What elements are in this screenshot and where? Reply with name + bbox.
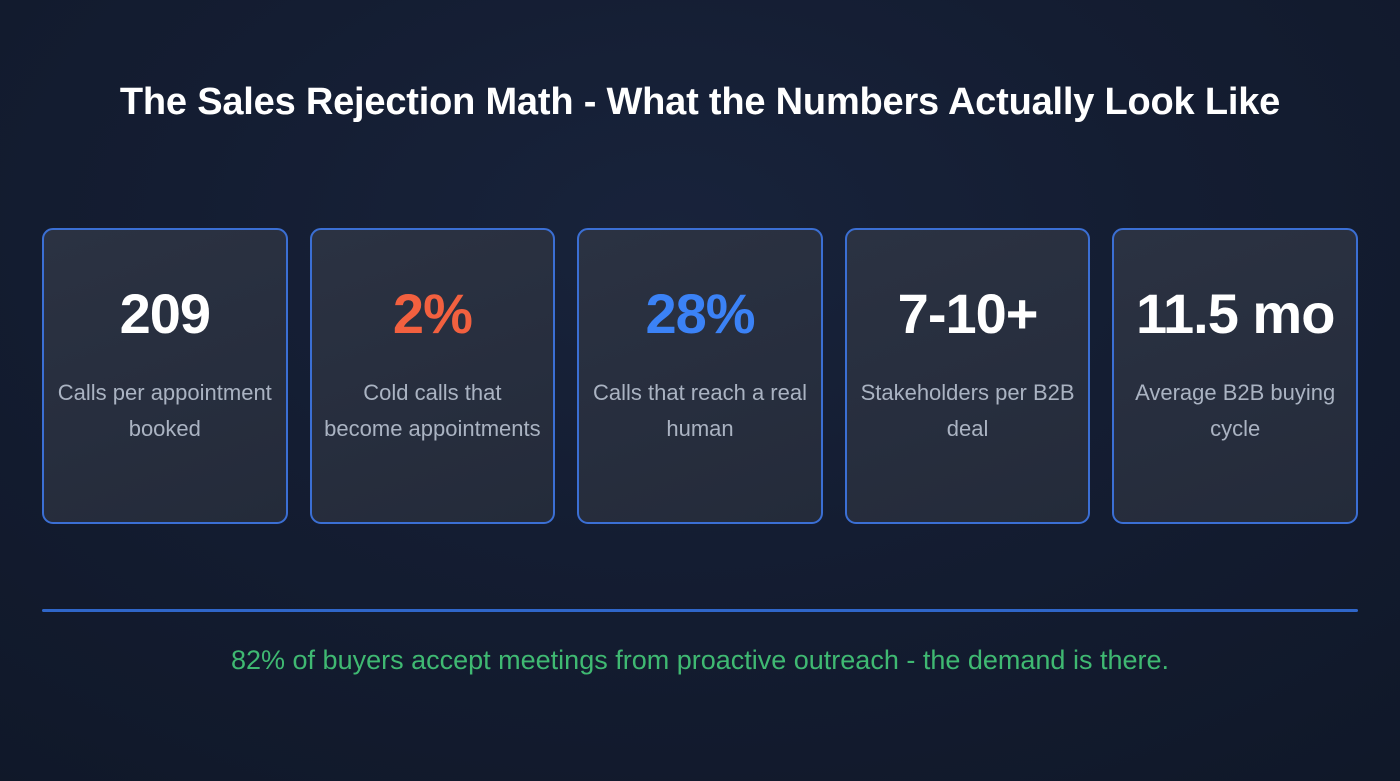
page-title: The Sales Rejection Math - What the Numb… <box>120 81 1280 124</box>
footer-section: 82% of buyers accept meetings from proac… <box>0 645 1400 676</box>
infographic-page: The Sales Rejection Math - What the Numb… <box>0 0 1400 781</box>
stat-card: 28% Calls that reach a real human <box>577 228 823 524</box>
footer-note: 82% of buyers accept meetings from proac… <box>231 645 1169 676</box>
stat-card: 2% Cold calls that become appointments <box>310 228 556 524</box>
stat-label: Average B2B buying cycle <box>1126 375 1344 447</box>
stat-value: 28% <box>645 286 754 342</box>
title-section: The Sales Rejection Math - What the Numb… <box>0 0 1400 176</box>
stat-value: 2% <box>393 286 472 342</box>
stat-value: 7-10+ <box>898 286 1038 342</box>
stat-card: 7-10+ Stakeholders per B2B deal <box>845 228 1091 524</box>
stat-card: 11.5 mo Average B2B buying cycle <box>1112 228 1358 524</box>
section-divider <box>42 609 1358 612</box>
stat-card: 209 Calls per appointment booked <box>42 228 288 524</box>
stat-label: Calls that reach a real human <box>591 375 809 447</box>
stat-label: Calls per appointment booked <box>56 375 274 447</box>
stat-cards-row: 209 Calls per appointment booked 2% Cold… <box>42 228 1358 524</box>
stat-value: 209 <box>120 286 210 342</box>
stat-label: Stakeholders per B2B deal <box>859 375 1077 447</box>
stat-label: Cold calls that become appointments <box>324 375 542 447</box>
stat-value: 11.5 mo <box>1136 286 1334 342</box>
